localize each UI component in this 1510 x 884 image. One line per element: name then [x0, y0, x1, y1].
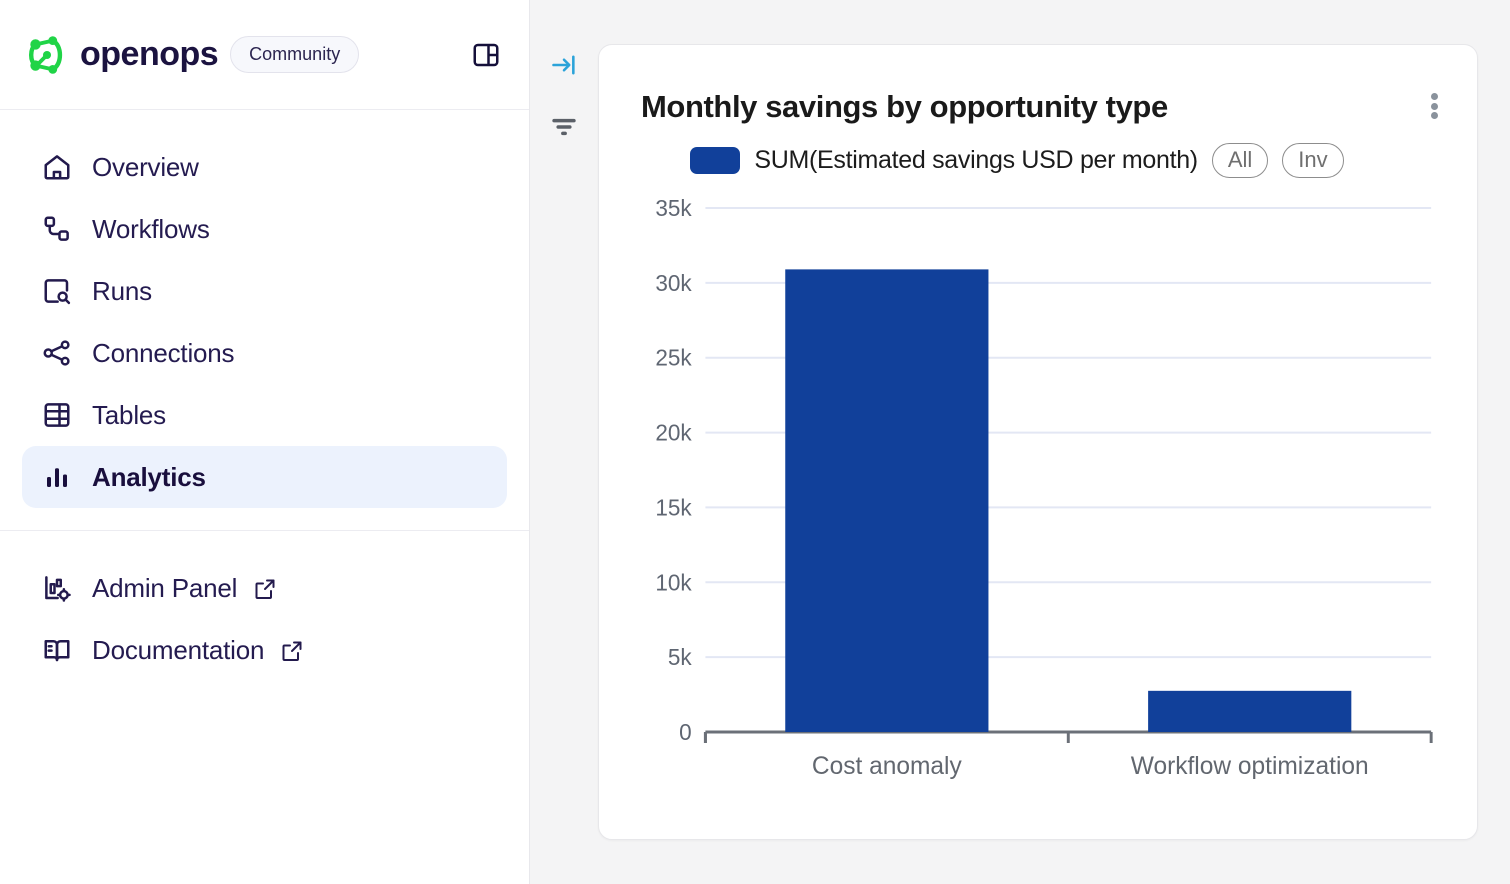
- sidebar-item-workflows[interactable]: Workflows: [22, 198, 507, 260]
- sidebar-item-tables[interactable]: Tables: [22, 384, 507, 446]
- y-axis-tick-label: 30k: [655, 270, 692, 296]
- chart-card: Monthly savings by opportunity type SUM(…: [598, 44, 1478, 840]
- sidebar-item-documentation[interactable]: Documentation: [22, 619, 507, 681]
- share-nodes-icon: [40, 336, 74, 370]
- kebab-dot: [1431, 103, 1438, 110]
- y-axis-tick-label: 5k: [668, 644, 692, 670]
- sidebar-item-connections[interactable]: Connections: [22, 322, 507, 384]
- kebab-menu-icon[interactable]: [1421, 89, 1447, 123]
- sidebar-item-label: Tables: [92, 400, 166, 431]
- y-axis-tick-label: 25k: [655, 345, 692, 371]
- sidebar: openops Community Overview: [0, 0, 530, 884]
- runs-search-icon: [40, 274, 74, 308]
- bar-chart: 05k10k15k20k25k30k35kCost anomalyWorkflo…: [625, 194, 1439, 794]
- kebab-dot: [1431, 93, 1438, 100]
- bar-chart-icon: [40, 460, 74, 494]
- sidebar-item-overview[interactable]: Overview: [22, 136, 507, 198]
- sidebar-item-runs[interactable]: Runs: [22, 260, 507, 322]
- y-axis-tick-label: 15k: [655, 494, 692, 520]
- sidebar-item-label: Analytics: [92, 462, 206, 493]
- sidebar-item-admin-panel[interactable]: Admin Panel: [22, 557, 507, 619]
- workflows-icon: [40, 212, 74, 246]
- y-axis-tick-label: 35k: [655, 195, 692, 221]
- home-icon: [40, 150, 74, 184]
- expand-panel-icon[interactable]: [547, 48, 581, 82]
- app-root: openops Community Overview: [0, 0, 1510, 884]
- y-axis-tick-label: 10k: [655, 569, 692, 595]
- brand-wordmark: openops: [80, 35, 218, 74]
- y-axis-tick-label: 20k: [655, 420, 692, 446]
- chart-card-header: Monthly savings by opportunity type: [599, 45, 1477, 125]
- chart-title: Monthly savings by opportunity type: [641, 89, 1168, 125]
- main-content: Monthly savings by opportunity type SUM(…: [530, 0, 1510, 884]
- sidebar-item-label: Runs: [92, 276, 152, 307]
- x-axis-category-label: Workflow optimization: [1131, 753, 1369, 780]
- sidebar-item-label: Connections: [92, 338, 234, 369]
- y-axis-tick-label: 0: [679, 719, 692, 745]
- x-axis-category-label: Cost anomaly: [812, 753, 962, 780]
- external-link-icon: [253, 576, 277, 600]
- book-open-icon: [40, 633, 74, 667]
- chart-legend: SUM(Estimated savings USD per month) All…: [599, 143, 1477, 178]
- sidebar-item-label: Workflows: [92, 214, 210, 245]
- edition-badge: Community: [230, 36, 359, 73]
- bar-chart-svg[interactable]: 05k10k15k20k25k30k35kCost anomalyWorkflo…: [625, 194, 1439, 794]
- select-all-button[interactable]: All: [1212, 143, 1268, 178]
- tool-rail: [530, 0, 598, 884]
- admin-chart-gear-icon: [40, 571, 74, 605]
- bar[interactable]: [1148, 691, 1351, 732]
- external-link-icon: [280, 638, 304, 662]
- invert-selection-button[interactable]: Inv: [1282, 143, 1343, 178]
- sidebar-item-label: Overview: [92, 152, 199, 183]
- sidebar-item-analytics[interactable]: Analytics: [22, 446, 507, 508]
- sidebar-item-label: Admin Panel: [92, 573, 237, 604]
- primary-navigation: Overview Workflows: [0, 110, 529, 508]
- filter-icon[interactable]: [547, 110, 581, 144]
- legend-label: SUM(Estimated savings USD per month): [754, 146, 1198, 175]
- secondary-navigation: Admin Panel: [0, 531, 529, 681]
- legend-color-swatch: [690, 147, 740, 174]
- kebab-dot: [1431, 112, 1438, 119]
- bar[interactable]: [785, 270, 988, 733]
- panel-layout-icon[interactable]: [469, 38, 503, 72]
- sidebar-item-label: Documentation: [92, 635, 264, 666]
- table-grid-icon: [40, 398, 74, 432]
- brand-header: openops Community: [0, 0, 529, 110]
- openops-logo-icon: [24, 32, 70, 78]
